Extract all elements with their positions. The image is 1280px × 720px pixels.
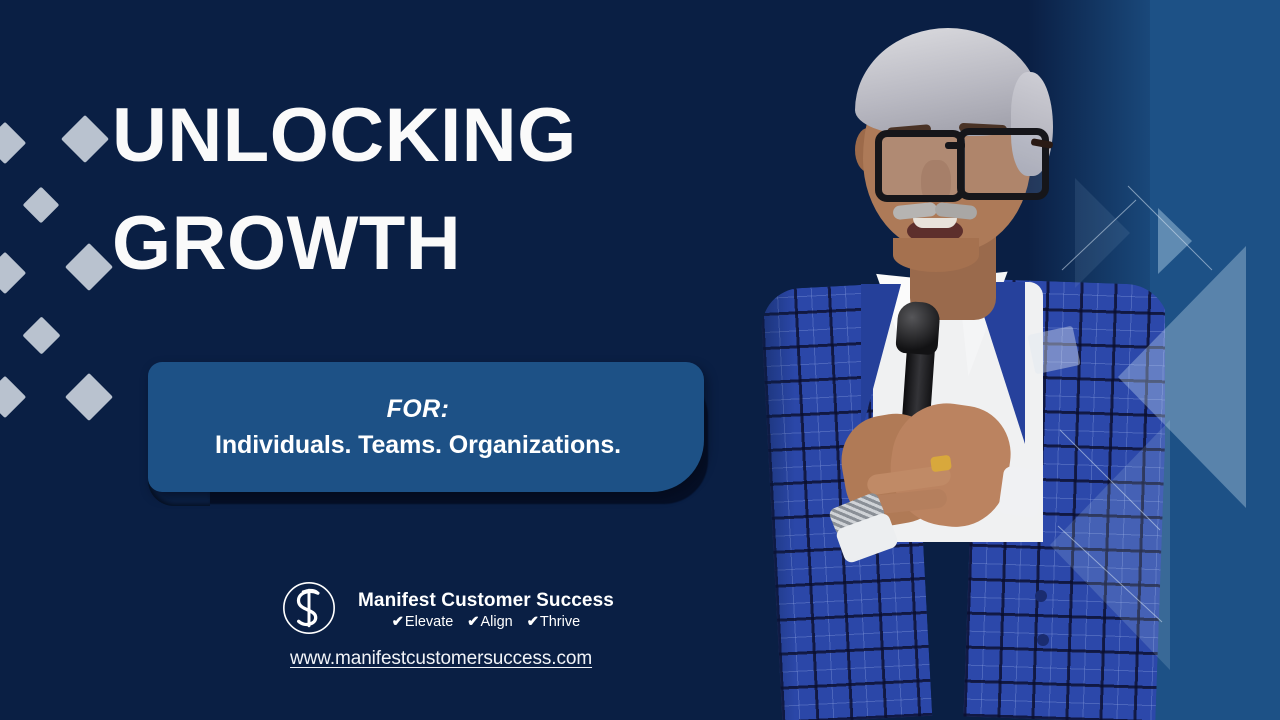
gold-ring <box>930 455 952 473</box>
brand-tagline: ElevateAlignThrive <box>392 614 580 630</box>
brand-logo-text: Manifest Customer Success ElevateAlignTh… <box>358 586 614 630</box>
blazer-button-upper <box>1035 590 1047 602</box>
background-right-panel <box>1150 0 1280 720</box>
blazer-lapel-left <box>861 284 901 434</box>
speaker-photo <box>735 0 1165 720</box>
page-title: UNLOCKING GROWTH <box>112 82 752 298</box>
eyeglasses-bridge <box>945 142 965 149</box>
eyeglasses-lens-left <box>875 130 965 202</box>
tagline-item-align: Align <box>467 614 512 630</box>
tagline-item-elevate: Elevate <box>392 614 454 630</box>
presentation-slide: UNLOCKING GROWTH FOR: Individuals. Teams… <box>0 0 1280 720</box>
callout-content: FOR: Individuals. Teams. Organizations. <box>148 362 688 492</box>
blazer-button-lower <box>1037 634 1049 646</box>
microphone-icon <box>895 301 941 356</box>
brand-logo: Manifest Customer Success ElevateAlignTh… <box>272 562 612 654</box>
manifest-cs-monogram-icon <box>272 571 346 645</box>
audience-callout: FOR: Individuals. Teams. Organizations. <box>148 362 716 512</box>
tagline-item-thrive: Thrive <box>527 614 580 630</box>
chin <box>893 238 979 272</box>
callout-audiences: Individuals. Teams. Organizations. <box>215 431 621 460</box>
website-url-link[interactable]: www.manifestcustomersuccess.com <box>290 648 690 670</box>
teeth <box>913 218 957 228</box>
brand-name: Manifest Customer Success <box>358 590 614 612</box>
callout-eyebrow: FOR: <box>387 395 450 424</box>
shirt-cuff-right <box>998 465 1044 518</box>
